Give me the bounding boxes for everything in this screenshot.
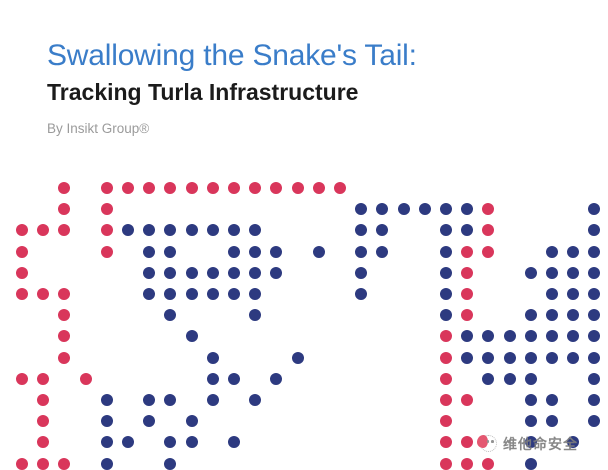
map-dot bbox=[376, 224, 388, 236]
map-dot bbox=[440, 352, 452, 364]
map-dot bbox=[143, 182, 155, 194]
map-dot bbox=[292, 352, 304, 364]
map-dot bbox=[567, 309, 579, 321]
map-dot bbox=[440, 203, 452, 215]
map-dot bbox=[58, 330, 70, 342]
map-dot bbox=[440, 330, 452, 342]
map-dot bbox=[461, 203, 473, 215]
map-dot bbox=[101, 436, 113, 448]
map-dot bbox=[461, 330, 473, 342]
map-dot bbox=[101, 246, 113, 258]
map-dot bbox=[525, 352, 537, 364]
map-dot bbox=[461, 267, 473, 279]
map-dot bbox=[546, 288, 558, 300]
map-dot bbox=[525, 415, 537, 427]
map-dot bbox=[588, 415, 600, 427]
map-dot bbox=[207, 394, 219, 406]
map-dot bbox=[122, 182, 134, 194]
map-dot bbox=[101, 224, 113, 236]
map-dot bbox=[440, 288, 452, 300]
map-dot bbox=[482, 224, 494, 236]
map-dot bbox=[525, 394, 537, 406]
map-dot bbox=[122, 436, 134, 448]
map-dot bbox=[482, 330, 494, 342]
map-dot bbox=[228, 288, 240, 300]
map-dot bbox=[37, 224, 49, 236]
map-dot bbox=[228, 373, 240, 385]
map-dot bbox=[588, 352, 600, 364]
map-dot bbox=[525, 309, 537, 321]
page-subtitle: Tracking Turla Infrastructure bbox=[47, 79, 577, 107]
map-dot bbox=[101, 203, 113, 215]
vitamin-security-logo-icon bbox=[477, 433, 498, 454]
map-dot bbox=[186, 415, 198, 427]
map-dot bbox=[461, 288, 473, 300]
map-dot bbox=[440, 394, 452, 406]
map-dot bbox=[249, 182, 261, 194]
map-dot bbox=[143, 267, 155, 279]
map-dot bbox=[16, 246, 28, 258]
map-dot bbox=[164, 436, 176, 448]
map-dot bbox=[504, 352, 516, 364]
map-dot bbox=[164, 246, 176, 258]
map-dot bbox=[355, 224, 367, 236]
map-dot bbox=[249, 224, 261, 236]
map-dot bbox=[588, 246, 600, 258]
map-dot bbox=[376, 203, 388, 215]
map-dot bbox=[588, 309, 600, 321]
map-dot bbox=[16, 288, 28, 300]
map-dot bbox=[249, 288, 261, 300]
map-dot bbox=[37, 394, 49, 406]
map-dot bbox=[249, 309, 261, 321]
map-dot bbox=[164, 288, 176, 300]
map-dot bbox=[355, 246, 367, 258]
map-dot bbox=[292, 182, 304, 194]
map-dot bbox=[164, 267, 176, 279]
map-dot bbox=[228, 182, 240, 194]
map-dot bbox=[207, 352, 219, 364]
document-page: Swallowing the Snake's Tail: Tracking Tu… bbox=[0, 0, 608, 470]
map-dot bbox=[504, 330, 516, 342]
map-dot bbox=[228, 267, 240, 279]
map-dot bbox=[37, 436, 49, 448]
map-dot bbox=[228, 246, 240, 258]
map-dot bbox=[482, 458, 494, 470]
map-dot bbox=[37, 373, 49, 385]
map-dot bbox=[525, 330, 537, 342]
map-dot bbox=[482, 373, 494, 385]
map-dot bbox=[186, 267, 198, 279]
map-dot bbox=[164, 394, 176, 406]
map-dot bbox=[588, 288, 600, 300]
map-dot bbox=[101, 458, 113, 470]
map-dot bbox=[16, 458, 28, 470]
map-dot bbox=[482, 203, 494, 215]
map-dot bbox=[525, 373, 537, 385]
title-block: Swallowing the Snake's Tail: Tracking Tu… bbox=[47, 38, 577, 136]
map-dot bbox=[567, 246, 579, 258]
page-title: Swallowing the Snake's Tail: bbox=[47, 38, 577, 73]
map-dot bbox=[270, 182, 282, 194]
byline: By Insikt Group® bbox=[47, 121, 577, 136]
map-dot bbox=[207, 267, 219, 279]
map-dot bbox=[461, 394, 473, 406]
map-dot bbox=[567, 352, 579, 364]
map-dot bbox=[398, 203, 410, 215]
map-dot bbox=[440, 373, 452, 385]
map-dot bbox=[207, 182, 219, 194]
map-dot bbox=[313, 246, 325, 258]
map-dot bbox=[461, 458, 473, 470]
map-dot bbox=[376, 246, 388, 258]
map-dot bbox=[546, 267, 558, 279]
map-dot bbox=[186, 436, 198, 448]
map-dot bbox=[461, 352, 473, 364]
map-dot bbox=[143, 415, 155, 427]
map-dot bbox=[440, 224, 452, 236]
map-dot bbox=[16, 224, 28, 236]
map-dot bbox=[546, 415, 558, 427]
map-dot bbox=[313, 182, 325, 194]
map-dot bbox=[588, 224, 600, 236]
map-dot bbox=[58, 182, 70, 194]
map-dot bbox=[525, 267, 537, 279]
map-dot bbox=[461, 246, 473, 258]
map-dot bbox=[101, 182, 113, 194]
map-dot bbox=[58, 288, 70, 300]
map-dot bbox=[419, 203, 431, 215]
map-dot bbox=[482, 246, 494, 258]
map-dot bbox=[440, 415, 452, 427]
map-dot bbox=[334, 182, 346, 194]
map-dot bbox=[164, 309, 176, 321]
map-dot bbox=[270, 267, 282, 279]
map-dot bbox=[546, 394, 558, 406]
map-dot bbox=[588, 394, 600, 406]
map-dot bbox=[525, 458, 537, 470]
map-dot bbox=[37, 458, 49, 470]
map-dot bbox=[58, 224, 70, 236]
map-dot bbox=[588, 267, 600, 279]
map-dot bbox=[567, 330, 579, 342]
map-dot bbox=[207, 373, 219, 385]
map-dot bbox=[461, 224, 473, 236]
map-dot bbox=[440, 309, 452, 321]
map-dot bbox=[58, 309, 70, 321]
map-dot bbox=[440, 458, 452, 470]
map-dot bbox=[143, 288, 155, 300]
map-dot bbox=[58, 203, 70, 215]
map-dot bbox=[588, 373, 600, 385]
map-dot bbox=[186, 224, 198, 236]
map-dot bbox=[58, 352, 70, 364]
map-dot bbox=[546, 352, 558, 364]
map-dot bbox=[270, 373, 282, 385]
map-dot bbox=[461, 309, 473, 321]
map-dot bbox=[228, 436, 240, 448]
map-dot bbox=[249, 246, 261, 258]
map-dot bbox=[440, 267, 452, 279]
map-dot bbox=[588, 330, 600, 342]
map-dot bbox=[270, 246, 282, 258]
map-dot bbox=[16, 267, 28, 279]
map-dot bbox=[228, 224, 240, 236]
map-dot bbox=[164, 458, 176, 470]
map-dot bbox=[546, 330, 558, 342]
map-dot bbox=[37, 288, 49, 300]
watermark-label: 维他命安全 bbox=[503, 434, 578, 454]
map-dot bbox=[588, 203, 600, 215]
map-dot bbox=[143, 246, 155, 258]
map-dot bbox=[249, 267, 261, 279]
map-dot bbox=[101, 394, 113, 406]
map-dot bbox=[164, 224, 176, 236]
map-dot bbox=[567, 288, 579, 300]
map-dot bbox=[546, 309, 558, 321]
map-dot bbox=[164, 182, 176, 194]
map-dot bbox=[440, 246, 452, 258]
map-dot bbox=[249, 394, 261, 406]
map-dot bbox=[143, 394, 155, 406]
map-dot bbox=[186, 330, 198, 342]
map-dot bbox=[440, 436, 452, 448]
map-dot bbox=[355, 288, 367, 300]
map-dot bbox=[186, 288, 198, 300]
map-dot bbox=[461, 436, 473, 448]
map-dot bbox=[186, 182, 198, 194]
map-dot bbox=[355, 267, 367, 279]
map-dot bbox=[80, 373, 92, 385]
map-dot bbox=[207, 288, 219, 300]
map-dot bbox=[101, 415, 113, 427]
map-dot bbox=[58, 458, 70, 470]
map-dot bbox=[207, 224, 219, 236]
map-dot bbox=[143, 224, 155, 236]
map-dot bbox=[16, 373, 28, 385]
map-dot bbox=[567, 267, 579, 279]
map-dot bbox=[546, 246, 558, 258]
map-dot bbox=[355, 203, 367, 215]
watermark: 维他命安全 bbox=[477, 433, 578, 454]
map-dot bbox=[37, 415, 49, 427]
map-dot bbox=[122, 224, 134, 236]
map-dot bbox=[504, 373, 516, 385]
map-dot bbox=[482, 352, 494, 364]
